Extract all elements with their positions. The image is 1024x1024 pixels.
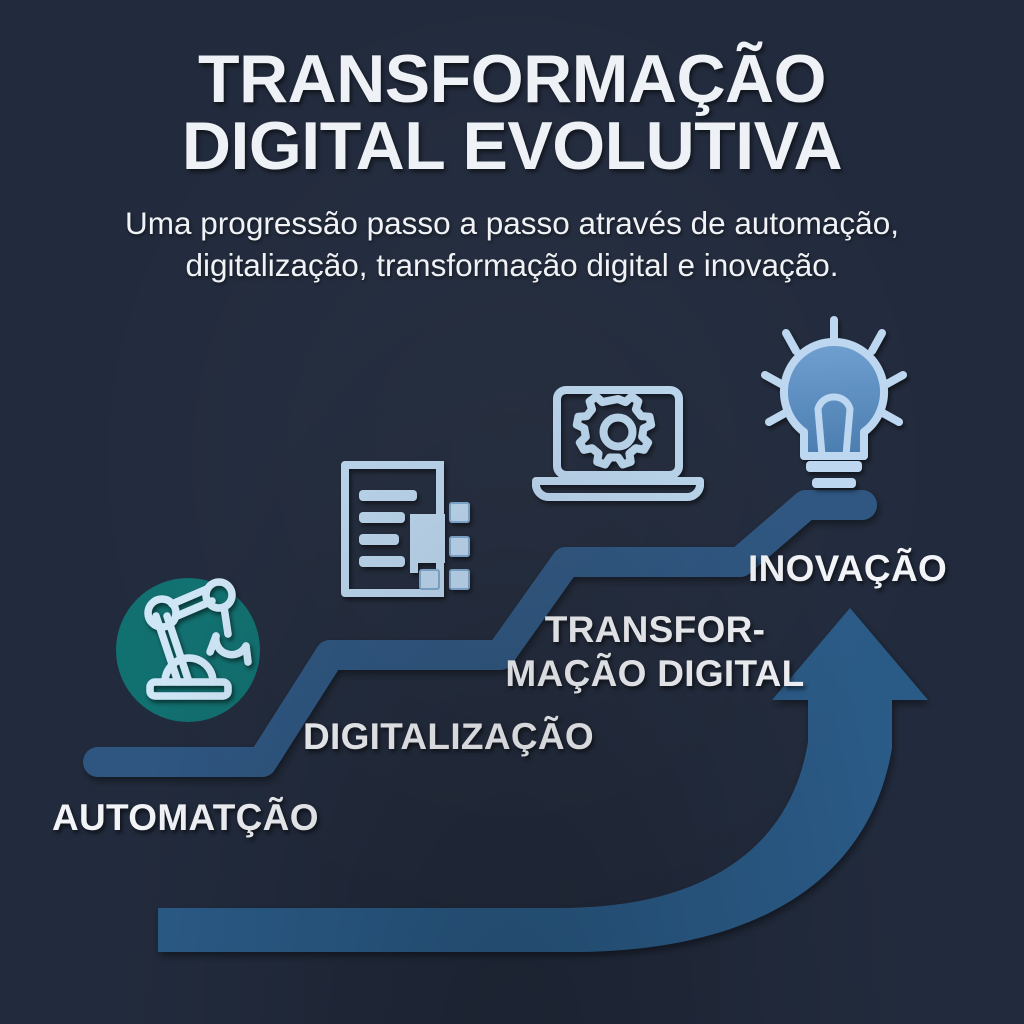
page-title: TRANSFORMAÇÃO DIGITAL EVOLUTIVA	[0, 0, 1024, 179]
step-icon-automacao	[116, 578, 260, 722]
infographic-canvas: TRANSFORMAÇÃO DIGITAL EVOLUTIVA Uma prog…	[0, 0, 1024, 1024]
step-label-automacao: AUTOMATÇÃO	[52, 797, 319, 839]
document-text-lines	[359, 490, 417, 567]
subtitle-line-1: Uma progressão passo a passo através de …	[0, 203, 1024, 245]
step-label-transformacao-digital: TRANSFOR- MAÇÃO DIGITAL	[505, 608, 805, 695]
title-line-1: TRANSFORMAÇÃO	[198, 41, 826, 117]
step-label-transformacao-line-2: MAÇÃO DIGITAL	[505, 653, 804, 694]
step-icon-transformacao	[536, 390, 700, 497]
page-subtitle: Uma progressão passo a passo através de …	[0, 179, 1024, 286]
title-line-2: DIGITAL EVOLUTIVA	[0, 113, 1024, 180]
subtitle-line-2: digitalização, transformação digital e i…	[0, 245, 1024, 287]
step-label-transformacao-line-1: TRANSFOR-	[545, 609, 766, 650]
step-icon-inovacao	[765, 320, 903, 488]
bulb-base	[806, 461, 862, 488]
step-label-digitalizacao: DIGITALIZAÇÃO	[303, 716, 594, 758]
step-label-inovacao: INOVAÇÃO	[748, 548, 947, 590]
header: TRANSFORMAÇÃO DIGITAL EVOLUTIVA Uma prog…	[0, 0, 1024, 286]
gear-icon	[577, 397, 651, 465]
step-icon-digitalizacao	[345, 465, 469, 593]
